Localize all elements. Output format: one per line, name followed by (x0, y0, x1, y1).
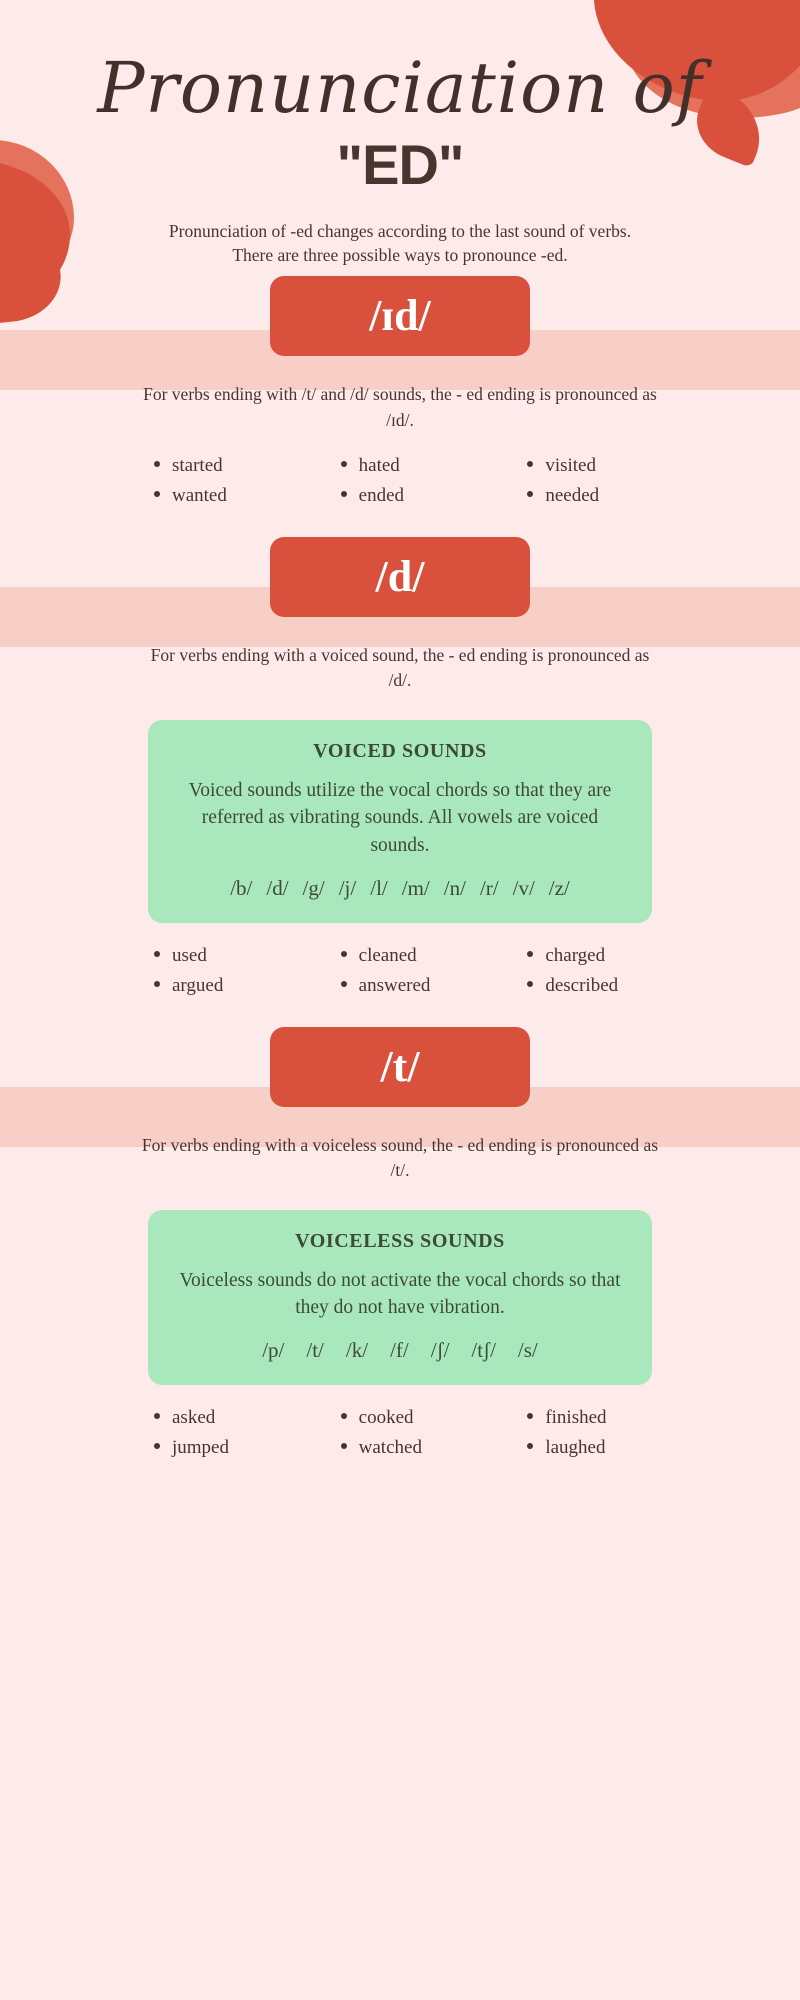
verb-label: charged (545, 945, 605, 967)
page-title-ed: "ED" (0, 132, 800, 197)
bullet-icon (527, 491, 533, 497)
section-t: /t/ For verbs ending with a voiceless so… (0, 1019, 800, 1459)
verb-list-t: asked cooked finished jumped watched lau… (120, 1407, 680, 1459)
list-item: ended (307, 485, 494, 507)
verb-label: asked (172, 1407, 215, 1429)
list-item: started (120, 455, 307, 477)
list-item: described (493, 975, 680, 997)
verb-list-id: started hated visited wanted ended neede… (120, 455, 680, 507)
list-item: argued (120, 975, 307, 997)
badge-row-t: /t/ (0, 1019, 800, 1115)
list-item: answered (307, 975, 494, 997)
bullet-icon (341, 461, 347, 467)
voiced-sounds-text: Voiced sounds utilize the vocal chords s… (170, 777, 630, 860)
phonetic-symbol: /s/ (507, 1338, 549, 1363)
verb-label: needed (545, 485, 599, 507)
list-item: charged (493, 945, 680, 967)
phonetic-symbol: /f/ (379, 1338, 420, 1363)
voiced-sounds-title: VOICED SOUNDS (170, 740, 630, 763)
verb-label: used (172, 945, 207, 967)
verb-label: laughed (545, 1437, 605, 1459)
bullet-icon (527, 1443, 533, 1449)
list-item: jumped (120, 1437, 307, 1459)
voiced-sounds-box: VOICED SOUNDS Voiced sounds utilize the … (148, 720, 652, 923)
bullet-icon (154, 461, 160, 467)
verb-label: ended (359, 485, 404, 507)
list-item: cleaned (307, 945, 494, 967)
bullet-icon (154, 981, 160, 987)
phonetic-symbol: /r/ (473, 876, 506, 901)
infographic-page: Pronunciation of "ED" Pronunciation of -… (0, 0, 800, 2000)
list-item: laughed (493, 1437, 680, 1459)
list-item: wanted (120, 485, 307, 507)
verb-list-d: used cleaned charged argued answered des… (120, 945, 680, 997)
phonetic-symbol: /n/ (437, 876, 473, 901)
phonetic-symbol: /d/ (259, 876, 295, 901)
phonetic-symbol: /j/ (332, 876, 364, 901)
voiceless-sounds-box: VOICELESS SOUNDS Voiceless sounds do not… (148, 1210, 652, 1385)
phonetic-symbol: /p/ (251, 1338, 295, 1363)
phonetic-symbol: /l/ (363, 876, 395, 901)
verb-label: jumped (172, 1437, 229, 1459)
bullet-icon (154, 491, 160, 497)
list-item: needed (493, 485, 680, 507)
bullet-icon (341, 491, 347, 497)
phonetic-symbol: /ʃ/ (420, 1338, 461, 1363)
verb-label: described (545, 975, 618, 997)
bullet-icon (154, 951, 160, 957)
verb-label: answered (359, 975, 431, 997)
section-id: /ɪd/ For verbs ending with /t/ and /d/ s… (0, 268, 800, 507)
badge-d: /d/ (270, 537, 530, 617)
voiceless-symbol-row: /p/ /t/ /k/ /f/ /ʃ/ /tʃ/ /s/ (170, 1338, 630, 1363)
bullet-icon (527, 951, 533, 957)
phonetic-symbol: /z/ (542, 876, 577, 901)
list-item: asked (120, 1407, 307, 1429)
list-item: finished (493, 1407, 680, 1429)
page-title-script: Pronunciation of (0, 0, 800, 126)
phonetic-symbol: /tʃ/ (460, 1338, 507, 1363)
phonetic-symbol: /b/ (223, 876, 259, 901)
badge-t: /t/ (270, 1027, 530, 1107)
voiceless-sounds-title: VOICELESS SOUNDS (170, 1230, 630, 1253)
verb-label: argued (172, 975, 223, 997)
bullet-icon (341, 1443, 347, 1449)
section-description-t: For verbs ending with a voiceless sound,… (140, 1133, 660, 1184)
badge-row-d: /d/ (0, 529, 800, 625)
bullet-icon (527, 461, 533, 467)
list-item: used (120, 945, 307, 967)
voiced-symbol-row: /b/ /d/ /g/ /j/ /l/ /m/ /n/ /r/ /v/ /z/ (170, 876, 630, 901)
voiceless-sounds-text: Voiceless sounds do not activate the voc… (170, 1267, 630, 1322)
section-description-d: For verbs ending with a voiced sound, th… (140, 643, 660, 694)
intro-paragraph: Pronunciation of -ed changes according t… (150, 219, 650, 269)
bullet-icon (154, 1413, 160, 1419)
phonetic-symbol: /t/ (295, 1338, 335, 1363)
verb-label: cooked (359, 1407, 414, 1429)
bullet-icon (527, 981, 533, 987)
verb-label: finished (545, 1407, 606, 1429)
content-column: Pronunciation of "ED" Pronunciation of -… (0, 0, 800, 1459)
bullet-icon (341, 981, 347, 987)
badge-row-id: /ɪd/ (0, 268, 800, 364)
verb-label: visited (545, 455, 596, 477)
list-item: hated (307, 455, 494, 477)
verb-label: watched (359, 1437, 422, 1459)
phonetic-symbol: /m/ (395, 876, 437, 901)
section-description-id: For verbs ending with /t/ and /d/ sounds… (140, 382, 660, 433)
phonetic-symbol: /k/ (335, 1338, 379, 1363)
section-d: /d/ For verbs ending with a voiced sound… (0, 529, 800, 997)
verb-label: started (172, 455, 223, 477)
list-item: watched (307, 1437, 494, 1459)
verb-label: hated (359, 455, 400, 477)
phonetic-symbol: /v/ (506, 876, 542, 901)
list-item: cooked (307, 1407, 494, 1429)
bullet-icon (154, 1443, 160, 1449)
phonetic-symbol: /g/ (296, 876, 332, 901)
badge-id: /ɪd/ (270, 276, 530, 356)
verb-label: wanted (172, 485, 227, 507)
verb-label: cleaned (359, 945, 417, 967)
bullet-icon (527, 1413, 533, 1419)
list-item: visited (493, 455, 680, 477)
bullet-icon (341, 951, 347, 957)
bullet-icon (341, 1413, 347, 1419)
